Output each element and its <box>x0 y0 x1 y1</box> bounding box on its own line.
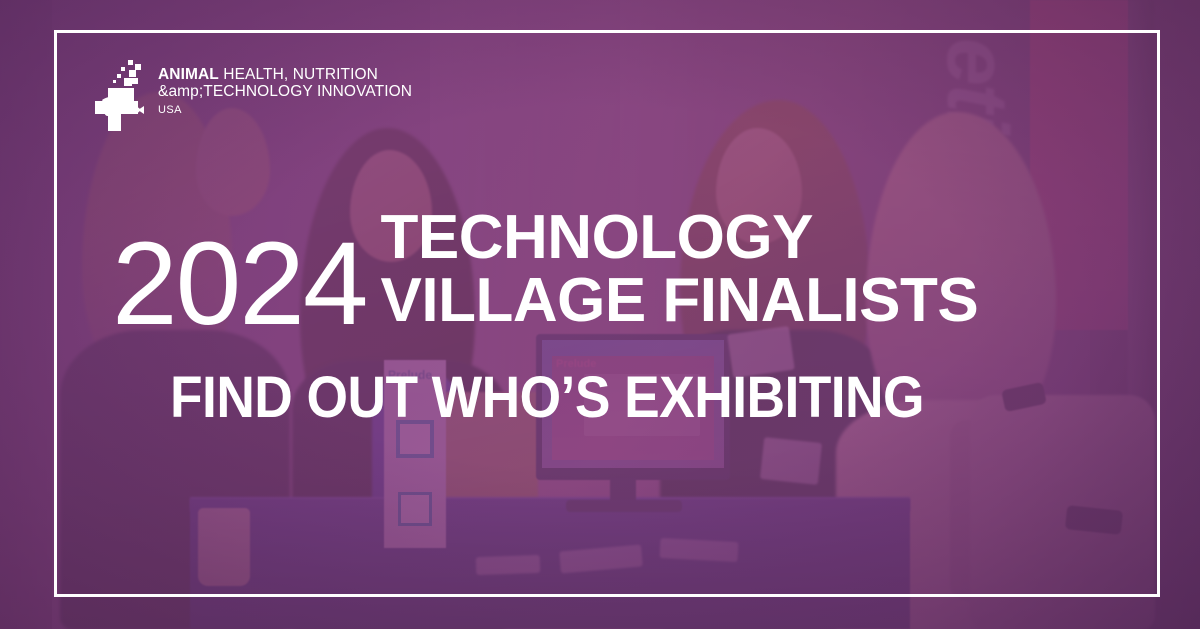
headline-main-row: 2024 TECHNOLOGY VILLAGE FINALISTS <box>112 206 1140 338</box>
brand-logo: ANIMAL HEALTH, NUTRITION &amp;TECHNOLOGY… <box>88 58 412 134</box>
headline-line-two: VILLAGE FINALISTS <box>381 269 979 332</box>
headline-subline: FIND OUT WHO’S EXHIBITING <box>170 364 1062 431</box>
promo-banner: etis Prelude Prelude <box>0 0 1200 629</box>
headline-year: 2024 <box>112 230 367 339</box>
wordmark-health-nutrition: HEALTH, NUTRITION <box>219 66 378 83</box>
wordmark-region: USA <box>158 104 412 116</box>
wordmark-line-two: &amp;TECHNOLOGY INNOVATION <box>158 83 412 100</box>
animal-health-cross-icon <box>88 58 146 134</box>
wordmark-animal: ANIMAL <box>158 66 219 83</box>
headline-title-stack: TECHNOLOGY VILLAGE FINALISTS <box>381 206 979 338</box>
brand-wordmark: ANIMAL HEALTH, NUTRITION &amp;TECHNOLOGY… <box>158 58 412 116</box>
headline-line-one: TECHNOLOGY <box>381 206 979 269</box>
wordmark-line-one: ANIMAL HEALTH, NUTRITION <box>158 66 412 83</box>
headline-block: 2024 TECHNOLOGY VILLAGE FINALISTS FIND O… <box>112 206 1140 431</box>
